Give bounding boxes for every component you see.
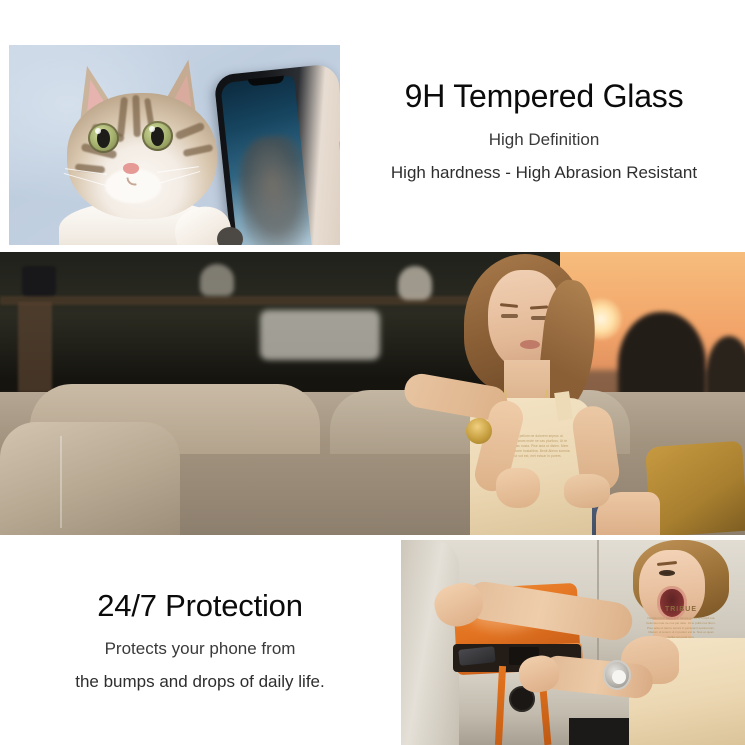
bottom-subtitle-bumps-and-drops: the bumps and drops of daily life. (14, 671, 386, 693)
kitten-paw-pad (217, 227, 243, 245)
kitten-eye-glint (95, 128, 101, 134)
woman-eye-left (501, 314, 518, 318)
shocked-woman-figure: TRIBUE Nestra mit te pone si in tempe qu… (581, 540, 745, 745)
product-infographic: { "canvas": { "width": 745, "height": 74… (0, 0, 745, 745)
background-pillow (260, 310, 380, 360)
section-title-24-7-protection: 24/7 Protection (14, 588, 386, 625)
bottom-subtitle-protects-your-phone: Protects your phone from (14, 638, 386, 660)
kitten-eye-glint (149, 126, 155, 132)
couch-armrest (401, 540, 459, 745)
decor-lamp (200, 264, 234, 296)
woman-lips (520, 340, 540, 349)
woman-figure: Nestra matrix pellum ne dolorem seprus u… (400, 252, 660, 535)
woman-open-mouth (657, 586, 687, 620)
decor-pot (22, 266, 56, 298)
kitten-muzzle (105, 169, 161, 203)
sofa-armrest (0, 422, 180, 535)
top-subtitle-high-definition: High Definition (355, 129, 733, 151)
kitten (57, 59, 257, 245)
cat-touching-phone-screen-photo (9, 45, 340, 245)
bottom-text-block: 24/7 Protection Protects your phone from… (14, 588, 386, 693)
kitten-eye-left (88, 123, 119, 153)
kitten-eye-right (142, 121, 173, 151)
wristwatch (603, 660, 631, 690)
top-text-block: 9H Tempered Glass High Definition High h… (355, 78, 733, 184)
wristwatch-face (612, 670, 626, 684)
woman-putting-phone-in-handbag-photo: Nestra matrix pellum ne dolorem seprus u… (0, 252, 745, 535)
woman-right-hand (564, 474, 610, 508)
woman-eye (659, 570, 675, 576)
tank-top-logo-text: TRIBUE (645, 606, 717, 613)
woman-left-hand (496, 468, 540, 508)
kitten-nose (123, 163, 139, 174)
sofa-seam (60, 436, 62, 528)
phone-in-bag (458, 646, 495, 666)
top-subtitle-high-hardness: High hardness - High Abrasion Resistant (355, 162, 733, 184)
cabinet-leg (18, 302, 52, 402)
woman-shocked-bag-opened-photo: TRIBUE Nestra mit te pone si in tempe qu… (401, 540, 745, 745)
page-title-9h-tempered-glass: 9H Tempered Glass (355, 78, 733, 115)
